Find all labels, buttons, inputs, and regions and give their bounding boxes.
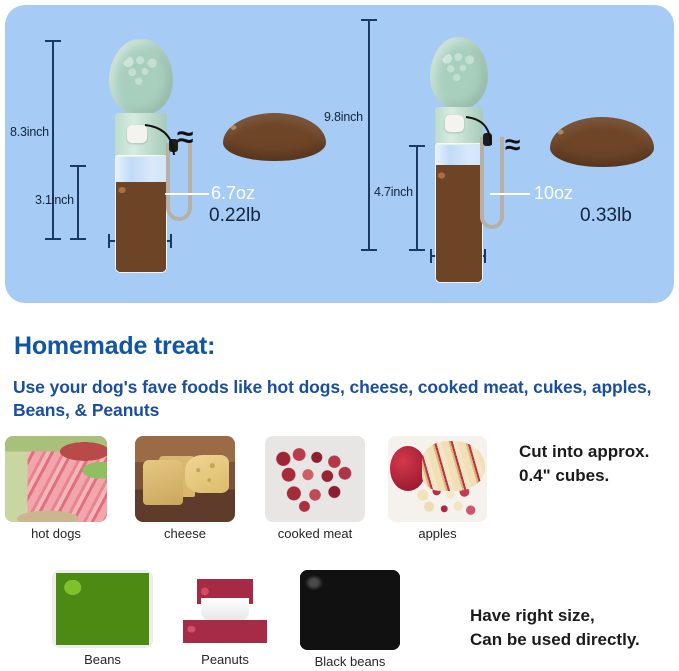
scoop-emboss-small	[121, 54, 162, 89]
cheese-image	[135, 436, 235, 522]
black-beans-artwork	[300, 570, 400, 650]
cheese-artwork	[135, 436, 235, 522]
kibble-pile-small	[223, 113, 326, 161]
peanuts-image	[175, 570, 275, 648]
food-item-beans[interactable]: Beans	[52, 570, 153, 671]
food-chamber-large	[435, 143, 483, 283]
black-beans-image	[300, 570, 400, 650]
food-chamber-small	[115, 155, 167, 273]
overall-height-ruler-large	[368, 19, 370, 251]
cheese-label: cheese	[164, 526, 206, 541]
food-item-cooked-meat[interactable]: cooked meat	[265, 436, 365, 541]
peanuts-label: Peanuts	[201, 652, 249, 667]
capacity-callout-line-small	[165, 193, 209, 195]
scoop-lid-large	[430, 37, 488, 109]
apple-cubes-artwork	[414, 485, 477, 519]
chamber-height-ruler-large	[416, 145, 418, 251]
food-item-hot-dogs[interactable]: hot dogs	[5, 436, 107, 541]
beans-image	[52, 570, 153, 648]
spec-panel: 8.3inch 3.1inch 2.4inch	[5, 5, 674, 303]
peanuts-artwork	[175, 570, 275, 648]
scoop-emboss-large	[440, 51, 477, 84]
food-item-cheese[interactable]: cheese	[135, 436, 235, 541]
spec-variant-large: 9.8inch 4.7inch 2.4inch	[340, 5, 674, 303]
approx-symbol-small: ≈	[177, 123, 193, 153]
cooked-meat-label: cooked meat	[278, 526, 352, 541]
overall-height-ruler-small	[52, 40, 54, 240]
hot-dogs-artwork	[5, 436, 107, 522]
capacity-oz-small: 6.7oz	[211, 183, 255, 204]
kibble-pile-large	[550, 117, 654, 167]
beans-label: Beans	[84, 652, 121, 667]
homemade-treat-heading: Homemade treat:	[14, 332, 215, 361]
chamber-height-label-small: 3.1inch	[35, 193, 74, 207]
infographic-page: 8.3inch 3.1inch 2.4inch	[0, 0, 679, 671]
food-item-peanuts[interactable]: Peanuts	[175, 570, 275, 671]
overall-height-label-large: 9.8inch	[324, 110, 363, 124]
hot-dogs-label: hot dogs	[31, 526, 81, 541]
capacity-oz-large: 10oz	[534, 183, 573, 204]
overall-height-label-small: 8.3inch	[10, 125, 49, 139]
chamber-height-label-large: 4.7inch	[374, 185, 413, 199]
apples-artwork	[388, 436, 487, 522]
apples-image	[388, 436, 487, 522]
beans-artwork	[52, 570, 153, 648]
kibble-fill-large	[436, 165, 482, 282]
food-item-black-beans[interactable]: Black beans	[300, 570, 400, 671]
capacity-lb-small: 0.22lb	[209, 205, 261, 227]
approx-symbol-large: ≈	[505, 131, 520, 159]
spec-variant-small: 8.3inch 3.1inch 2.4inch	[5, 5, 340, 303]
release-button-large[interactable]	[445, 115, 464, 132]
peanut-bowl-artwork	[201, 598, 249, 625]
food-item-apples[interactable]: apples	[388, 436, 487, 541]
black-beans-label: Black beans	[315, 654, 386, 669]
apples-label: apples	[418, 526, 456, 541]
cut-size-note: Cut into approx. 0.4" cubes.	[519, 440, 649, 488]
right-size-note: Have right size, Can be used directly.	[470, 604, 640, 652]
kibble-fill-small	[116, 182, 166, 272]
capacity-callout-line-large	[490, 193, 530, 195]
homemade-treat-description: Use your dog's fave foods like hot dogs,…	[13, 376, 653, 422]
scoop-lid-small	[109, 39, 173, 115]
capacity-lb-large: 0.33lb	[580, 205, 632, 227]
wrist-strap-large	[480, 137, 504, 229]
pointer-wire-large	[464, 115, 510, 149]
cooked-meat-image	[265, 436, 365, 522]
chamber-height-ruler-small	[77, 165, 79, 240]
cooked-meat-artwork	[265, 436, 365, 522]
hot-dogs-image	[5, 436, 107, 522]
